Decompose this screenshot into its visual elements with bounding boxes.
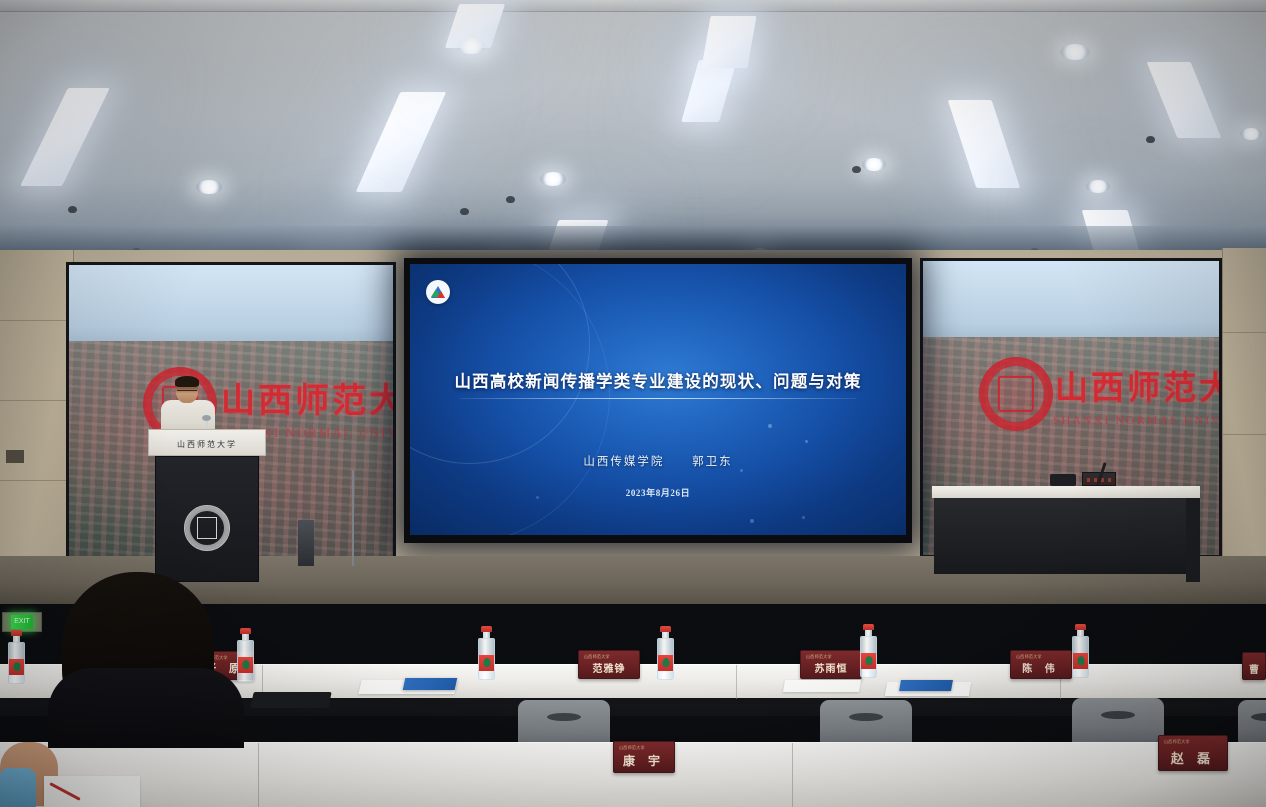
nameplate: 曹 [1242,652,1266,680]
exit-sign: EXIT [2,612,42,632]
nameplate-name: 赵 磊 [1171,748,1215,770]
wall-seam [0,320,73,321]
bottle-label [238,657,253,673]
led-university-name-cn: 山西师范大学 [1055,361,1222,409]
podium-microphone [202,415,211,421]
slide-bokeh-dot [768,424,772,428]
nameplate-org: 山西师范大学 [806,654,832,660]
university-seal-icon [184,505,230,551]
control-desk-equipment [1050,474,1076,486]
nameplate-name: 范雅铮 [593,660,626,678]
slide-bokeh-dot [740,469,743,472]
control-desk [934,498,1198,574]
led-university-name-en: SHANXI NORMAL UNIVERSITY [1053,413,1222,428]
ceiling-sensor [68,206,77,213]
ceiling-downlight [1060,44,1090,60]
nameplate-org: 山西师范大学 [1016,654,1042,660]
paper-sheet [783,680,861,692]
booklet [899,680,953,691]
ceiling-sensor [460,208,469,215]
ceiling-panel-light [356,92,447,192]
stage-loudspeaker [298,520,314,566]
attendee-seated-body [48,668,244,748]
nameplate-name: 陈 伟 [1022,660,1060,678]
wall-seam [0,480,73,481]
podium-top: 山西师范大学 [148,429,266,456]
control-desk-top [932,486,1200,498]
presentation-slide: 山西高校新闻传播学类专业建设的现状、问题与对策 山西传媒学院 郭卫东 2023年… [410,264,906,535]
bottle-label [658,655,673,671]
ceiling-panel-light [20,88,110,186]
nameplate: 山西师范大学 范雅铮 [578,650,640,679]
university-seal-icon [979,357,1053,431]
control-desk-leg [1186,498,1200,582]
triangle-logo-icon [431,286,445,298]
nameplate-base [1242,679,1266,680]
slide-bokeh-dot [802,516,805,519]
ceiling [0,0,1266,262]
slide-title-rule [460,398,856,399]
ceiling-sensor [1146,136,1155,143]
water-bottle [860,624,877,678]
bottle-body [657,638,674,680]
slide-title: 山西高校新闻传播学类专业建设的现状、问题与对策 [410,368,906,392]
ceiling-sensor [506,196,515,203]
slide-author-affiliation: 山西传媒学院 [583,456,664,468]
podium-banner-text: 山西师范大学 [149,439,265,450]
podium [155,456,259,582]
notebook [44,776,140,807]
ceiling-downlight [196,180,222,194]
projection-screen: 山西高校新闻传播学类专业建设的现状、问题与对策 山西传媒学院 郭卫东 2023年… [404,258,912,543]
nameplate-org: 山西师范大学 [619,745,645,751]
nameplate-base [613,772,675,773]
wall-seam [0,400,73,401]
smartphone [250,692,331,708]
bottle-label [861,653,876,669]
wall-seam [1223,332,1266,333]
bottle-body [237,640,254,682]
nameplate-org: 山西师范大学 [1164,739,1190,745]
water-bottle [657,626,674,680]
bottle-body [1072,636,1089,678]
bottle-body [860,636,877,678]
wall-panel-left [0,250,74,600]
slide-logo [426,280,450,304]
conference-hall-photo: EXIT 山西师范大学 SHANXI NORMAL UNIVERSITY 山西师… [0,0,1266,807]
slide-author-name: 郭卫东 [692,456,733,468]
water-bottle [8,630,25,684]
ceiling-downlight [862,158,886,171]
nameplate: 山西师范大学 陈 伟 [1010,650,1072,679]
nameplate-name: 康 宇 [623,752,665,772]
ceiling-panel-light [701,16,756,68]
led-sky [69,265,393,353]
nameplate: 山西师范大学 赵 磊 [1158,735,1228,771]
ceiling-sensor [852,166,861,173]
bottle-body [478,638,495,680]
nameplate-base [578,678,640,679]
table-seam [258,743,259,807]
slide-author: 山西传媒学院 郭卫东 [410,453,906,469]
exit-sign-label: EXIT [11,615,33,629]
nameplate-name: 曹 [1249,661,1259,679]
nameplate: 山西师范大学 康 宇 [613,741,675,773]
water-bottle [237,628,254,682]
nameplate-base [1158,770,1228,771]
ceiling-downlight [540,172,566,186]
speaker-hair [175,376,199,387]
nameplate-base [800,678,862,679]
wall-seam [1223,434,1266,435]
ceiling-downlight [456,38,486,54]
ceiling-panel-light [681,60,737,122]
nameplate-base [1010,678,1072,679]
nameplate-org: 山西师范大学 [584,654,610,660]
ceiling-beam [0,0,1266,12]
wall-vent [6,450,24,463]
table-seam [792,743,793,807]
ceiling-panel-light [1147,62,1222,138]
slide-bokeh-dot [805,440,808,443]
ceiling-panel-light [948,100,1021,188]
water-bottle [478,626,495,680]
bottle-label [9,659,24,675]
booklet [403,678,458,690]
attendee-foreground-sleeve [0,768,36,807]
nameplate-name: 苏雨恒 [815,660,848,678]
led-university-name-cn: 山西师范大学 [221,373,396,422]
speaker-glasses [177,390,197,394]
led-sky [923,261,1219,349]
wall-panel-right [1222,248,1266,598]
ceiling-downlight [1240,128,1262,140]
ceiling-downlight [1086,180,1110,193]
water-bottle [1072,624,1089,678]
slide-bokeh-dot [750,519,754,523]
bottle-label [1073,653,1088,669]
bottle-body [8,642,25,684]
nameplate: 山西师范大学 苏雨恒 [800,650,862,679]
stage-mic-pole [352,470,354,566]
slide-date: 2023年8月26日 [410,486,906,499]
bottle-label [479,655,494,671]
table-seam [736,665,737,699]
